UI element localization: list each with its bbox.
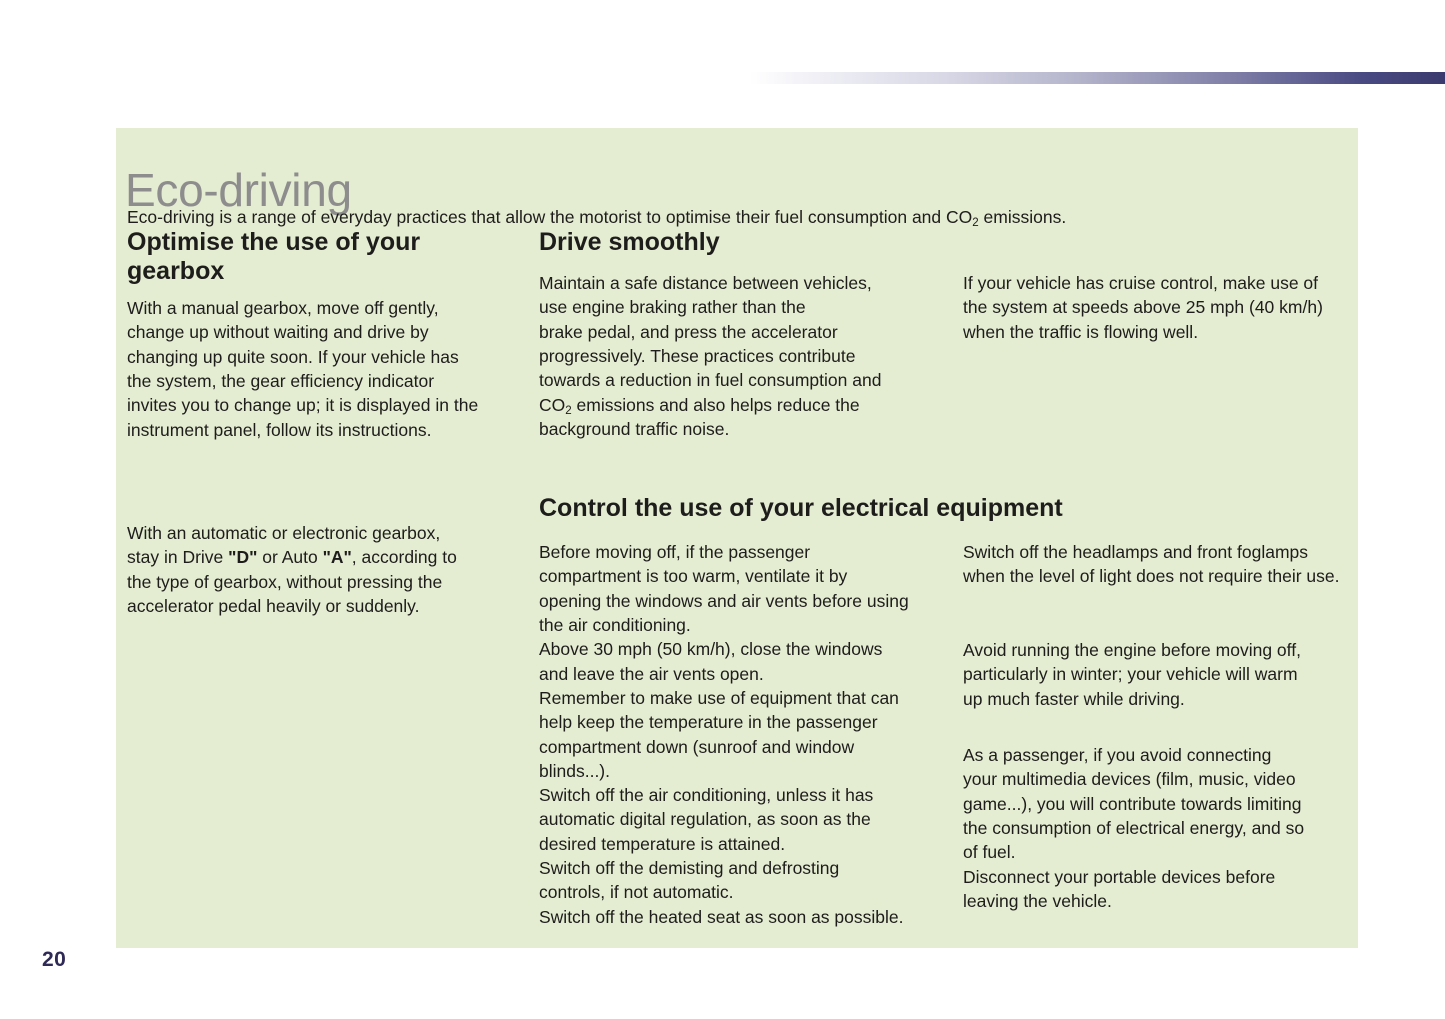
text-line: game...), you will contribute towards li… xyxy=(963,792,1363,816)
electrical-right-paragraph-2: Avoid running the engine before moving o… xyxy=(963,638,1363,711)
gearbox-manual-text: With a manual gearbox, move off gently, … xyxy=(127,296,527,442)
text-line: Above 30 mph (50 km/h), close the window… xyxy=(539,637,959,661)
text-fragment: or Auto xyxy=(257,547,322,567)
section-heading-drive-smoothly-wrap: Drive smoothly xyxy=(539,228,939,257)
text-line: Remember to make use of equipment that c… xyxy=(539,686,959,710)
text-line: CO2 emissions and also helps reduce the xyxy=(539,393,959,417)
content-panel: Eco-driving Eco-driving is a range of ev… xyxy=(116,128,1358,948)
text-line: compartment down (sunroof and window xyxy=(539,735,959,759)
text-line: automatic digital regulation, as soon as… xyxy=(539,807,959,831)
text-line: instrument panel, follow its instruction… xyxy=(127,418,527,442)
text-line: compartment is too warm, ventilate it by xyxy=(539,564,959,588)
page-number: 20 xyxy=(42,948,66,972)
text-line: opening the windows and air vents before… xyxy=(539,589,959,613)
cruise-control-paragraph: If your vehicle has cruise control, make… xyxy=(963,271,1363,344)
text-line: Avoid running the engine before moving o… xyxy=(963,638,1363,662)
text-line: progressively. These practices contribut… xyxy=(539,344,959,368)
text-line: the system, the gear efficiency indicato… xyxy=(127,369,527,393)
section-heading-drive-smoothly: Drive smoothly xyxy=(539,228,939,257)
gearbox-manual-paragraph: With a manual gearbox, move off gently, … xyxy=(127,296,527,442)
subtitle-text-part1: Eco-driving is a range of everyday pract… xyxy=(127,207,972,227)
text-line: of fuel. xyxy=(963,840,1363,864)
text-line: With an automatic or electronic gearbox, xyxy=(127,521,527,545)
drive-smoothly-paragraph: Maintain a safe distance between vehicle… xyxy=(539,271,959,441)
text-line: blinds...). xyxy=(539,759,959,783)
text-line: Switch off the heated seat as soon as po… xyxy=(539,905,959,929)
text-line: changing up quite soon. If your vehicle … xyxy=(127,345,527,369)
text-line: change up without waiting and drive by xyxy=(127,320,527,344)
text-line: the system at speeds above 25 mph (40 km… xyxy=(963,295,1363,319)
gearbox-automatic-text: With an automatic or electronic gearbox,… xyxy=(127,521,527,618)
gearbox-automatic-paragraph: With an automatic or electronic gearbox,… xyxy=(127,521,527,618)
section-heading-gearbox-wrap: Optimise the use of your gearbox xyxy=(127,228,517,287)
drive-d-label: "D" xyxy=(228,547,257,567)
text-line: accelerator pedal heavily or suddenly. xyxy=(127,594,527,618)
text-line: up much faster while driving. xyxy=(963,687,1363,711)
text-line: controls, if not automatic. xyxy=(539,880,959,904)
text-line: when the level of light does not require… xyxy=(963,564,1363,588)
text-line: With a manual gearbox, move off gently, xyxy=(127,296,527,320)
text-fragment: emissions and also helps reduce the xyxy=(572,395,860,415)
text-line: As a passenger, if you avoid connecting xyxy=(963,743,1363,767)
text-line: brake pedal, and press the accelerator xyxy=(539,320,959,344)
electrical-right-paragraph-1: Switch off the headlamps and front fogla… xyxy=(963,540,1363,589)
text-line: invites you to change up; it is displaye… xyxy=(127,393,527,417)
electrical-right-paragraph-3: As a passenger, if you avoid connecting … xyxy=(963,743,1363,913)
text-line: when the traffic is flowing well. xyxy=(963,320,1363,344)
text-line: Disconnect your portable devices before xyxy=(963,865,1363,889)
text-line: Switch off the air conditioning, unless … xyxy=(539,783,959,807)
text-line: Switch off the headlamps and front fogla… xyxy=(963,540,1363,564)
text-line: Maintain a safe distance between vehicle… xyxy=(539,271,959,295)
text-line: use engine braking rather than the xyxy=(539,295,959,319)
section-heading-electrical-wrap: Control the use of your electrical equip… xyxy=(539,494,1339,523)
drive-smoothly-text: Maintain a safe distance between vehicle… xyxy=(539,271,959,441)
text-line: background traffic noise. xyxy=(539,417,959,441)
text-fragment: , according to xyxy=(352,547,457,567)
cruise-control-text: If your vehicle has cruise control, make… xyxy=(963,271,1363,344)
co2-label: CO xyxy=(539,395,565,415)
header-gradient-rule xyxy=(750,72,1445,84)
text-line: Switch off the demisting and defrosting xyxy=(539,856,959,880)
auto-a-label: "A" xyxy=(323,547,352,567)
text-line: and leave the air vents open. xyxy=(539,662,959,686)
section-heading-gearbox: Optimise the use of your gearbox xyxy=(127,228,517,287)
text-line: help keep the temperature in the passeng… xyxy=(539,710,959,734)
page-subtitle: Eco-driving is a range of everyday pract… xyxy=(127,206,1066,229)
text-line: towards a reduction in fuel consumption … xyxy=(539,368,959,392)
text-line: particularly in winter; your vehicle wil… xyxy=(963,662,1363,686)
electrical-left-paragraph: Before moving off, if the passenger comp… xyxy=(539,540,959,929)
electrical-left-text: Before moving off, if the passenger comp… xyxy=(539,540,959,929)
engine-idling-text: Avoid running the engine before moving o… xyxy=(963,638,1363,711)
multimedia-text: As a passenger, if you avoid connecting … xyxy=(963,743,1363,913)
text-line: your multimedia devices (film, music, vi… xyxy=(963,767,1363,791)
text-line: leaving the vehicle. xyxy=(963,889,1363,913)
text-line: If your vehicle has cruise control, make… xyxy=(963,271,1363,295)
text-line: the consumption of electrical energy, an… xyxy=(963,816,1363,840)
text-fragment: stay in Drive xyxy=(127,547,228,567)
text-line: the air conditioning. xyxy=(539,613,959,637)
headlamps-text: Switch off the headlamps and front fogla… xyxy=(963,540,1363,589)
section-heading-electrical: Control the use of your electrical equip… xyxy=(539,494,1339,523)
subtitle-text-part2: emissions. xyxy=(979,207,1067,227)
text-line: Before moving off, if the passenger xyxy=(539,540,959,564)
text-line: stay in Drive "D" or Auto "A", according… xyxy=(127,545,527,569)
text-line: the type of gearbox, without pressing th… xyxy=(127,570,527,594)
text-line: desired temperature is attained. xyxy=(539,832,959,856)
